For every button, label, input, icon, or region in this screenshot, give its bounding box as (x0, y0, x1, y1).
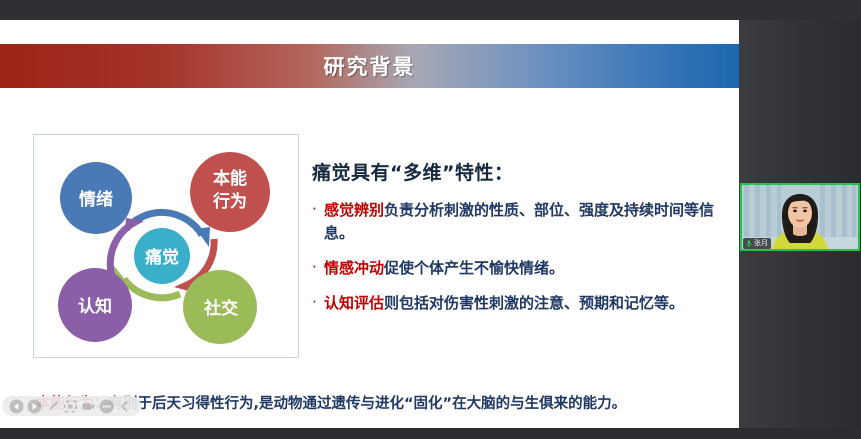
bullet-marker: · (312, 257, 324, 277)
list-item: · 认知评估则包括对伤害性刺激的注意、预期和记忆等。 (312, 292, 727, 315)
shared-slide-area: 研究背景 (0, 20, 739, 428)
node-cognition-label: 认知 (78, 296, 112, 317)
more-icon[interactable] (99, 399, 114, 414)
slide-title: 研究背景 (324, 51, 416, 81)
bullet-rest: 促使个体产生不愉快情绪。 (384, 259, 564, 277)
window-bottom-bar (0, 428, 861, 439)
pen-icon[interactable] (45, 399, 60, 414)
participant-name-chip: 张月 (743, 238, 771, 249)
window-top-bar (0, 0, 861, 20)
footnote-rest: 有别于后天习得性行为,是动物通过遗传与进化“固化”在大脑的与生俱来的能力。 (109, 396, 627, 412)
bullet-keyword: 感觉辨别 (324, 201, 384, 219)
meeting-window: 研究背景 (0, 0, 861, 439)
list-item: · 感觉辨别负责分析刺激的性质、部位、强度及持续时间等信息。 (312, 199, 727, 245)
node-emotion-label: 情绪 (79, 189, 113, 210)
bullet-text: 情感冲动促使个体产生不愉快情绪。 (324, 257, 564, 280)
node-pain-label: 痛觉 (145, 247, 179, 268)
presentation-toolbar[interactable] (2, 396, 141, 416)
participant-name: 张月 (754, 238, 768, 249)
play-icon[interactable] (27, 399, 42, 414)
pain-dimensions-diagram: 情绪 本能 行为 社交 认知 痛觉 (33, 134, 299, 358)
bullet-keyword: 情感冲动 (324, 259, 384, 277)
node-instinct-label-line2: 行为 (212, 191, 247, 212)
bullet-keyword: 认知评估 (324, 294, 384, 312)
camera-icon[interactable] (81, 399, 96, 414)
bullet-rest: 则包括对伤害性刺激的注意、预期和记忆等。 (384, 294, 684, 312)
bullet-marker: · (312, 292, 324, 312)
body-heading: 痛觉具有“多维”特性： (312, 158, 727, 185)
slide-body-text: 痛觉具有“多维”特性： · 感觉辨别负责分析刺激的性质、部位、强度及持续时间等信… (312, 158, 727, 327)
bullet-marker: · (312, 199, 324, 219)
list-item: · 情感冲动促使个体产生不愉快情绪。 (312, 257, 727, 280)
bullet-text: 认知评估则包括对伤害性刺激的注意、预期和记忆等。 (324, 292, 684, 315)
bullet-text: 感觉辨别负责分析刺激的性质、部位、强度及持续时间等信息。 (324, 199, 727, 245)
previous-icon[interactable] (9, 399, 24, 414)
collapse-left-icon[interactable] (117, 399, 132, 414)
node-social-label: 社交 (203, 298, 238, 319)
laser-pointer-icon[interactable] (63, 399, 78, 414)
node-instinct-label-line1: 本能 (213, 168, 247, 189)
microphone-icon (746, 240, 752, 248)
slide-title-banner: 研究背景 (0, 44, 739, 88)
diagram-graphic: 情绪 本能 行为 社交 认知 痛觉 (34, 135, 300, 359)
